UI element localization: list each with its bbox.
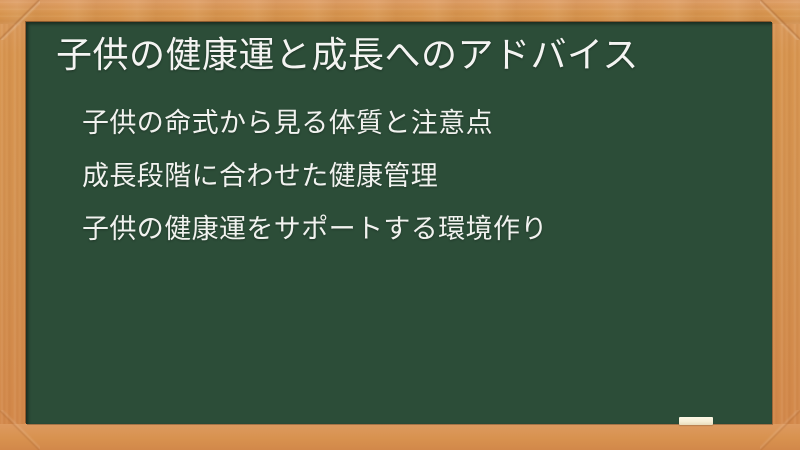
bullet-item-3: 子供の健康運をサポートする環境作り [82,216,742,243]
slide-bullet-list: 子供の命式から見る体質と注意点 成長段階に合わせた健康管理 子供の健康運をサポー… [82,110,742,243]
blackboard: 子供の健康運と成長へのアドバイス 子供の命式から見る体質と注意点 成長段階に合わ… [26,22,772,424]
slide-title: 子供の健康運と成長へのアドバイス [56,32,756,77]
bullet-item-1: 子供の命式から見る体質と注意点 [82,110,742,137]
frame-bottom-ledge [0,424,800,450]
bullet-item-2: 成長段階に合わせた健康管理 [82,163,742,190]
chalk-stick [679,417,713,425]
slide-canvas: 子供の健康運と成長へのアドバイス 子供の命式から見る体質と注意点 成長段階に合わ… [0,0,800,450]
frame-top-rail [0,0,800,24]
